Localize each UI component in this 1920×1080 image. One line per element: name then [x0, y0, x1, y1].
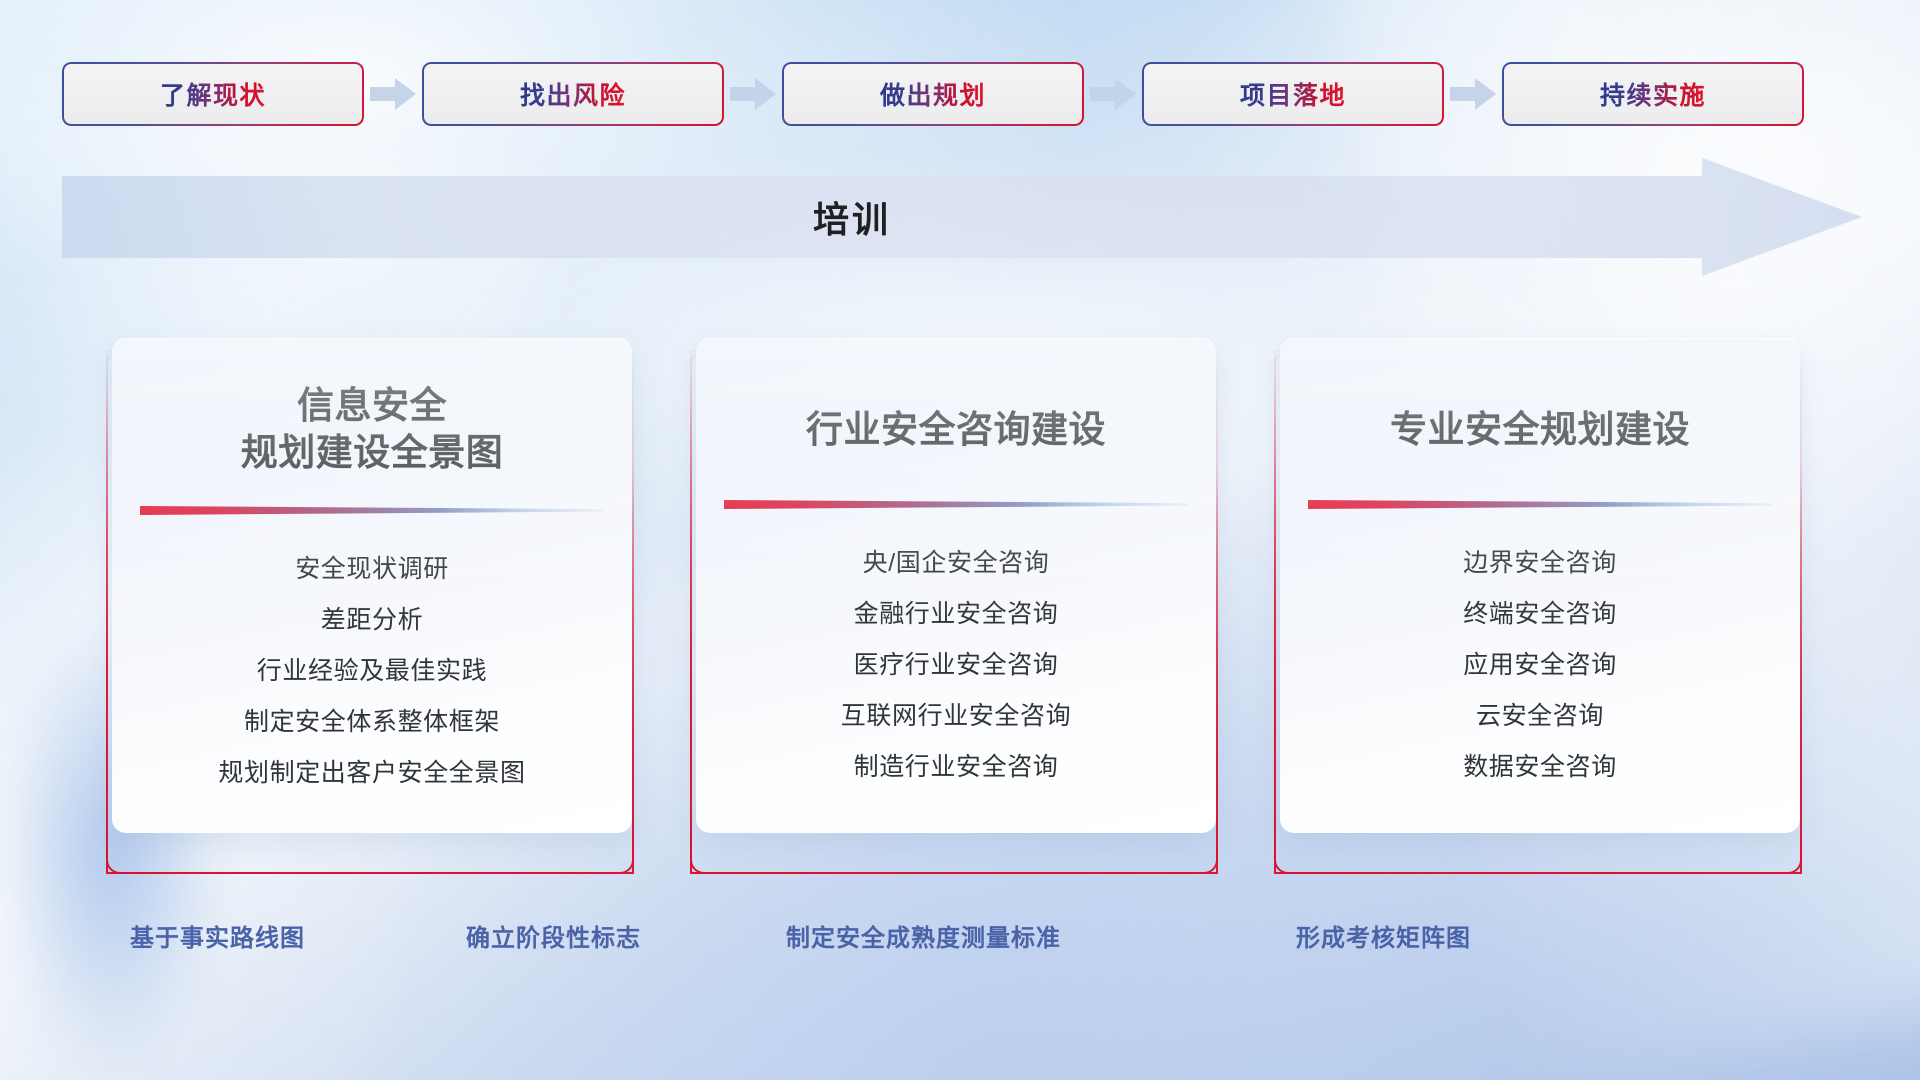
cards-row: 信息安全 规划建设全景图: [112, 338, 1812, 868]
list-item: 央/国企安全咨询: [696, 538, 1216, 589]
card-2[interactable]: 行业安全咨询建设: [696, 338, 1224, 868]
footnote-row: 基于事实路线图 确立阶段性标志 制定安全成熟度测量标准 形成考核矩阵图: [0, 918, 1920, 962]
step-box-5[interactable]: 持续实施: [1502, 62, 1804, 126]
process-step-row: 了解现状 找出风险 做出规划 项目落地: [62, 62, 1862, 126]
footnote-3: 制定安全成熟度测量标准: [786, 918, 1061, 953]
training-banner-label: 培训: [0, 158, 1752, 276]
step-label-1: 了解现状: [160, 76, 266, 112]
list-item: 安全现状调研: [112, 544, 632, 595]
step-connector-arrow-1-icon: [370, 78, 416, 110]
list-item: 互联网行业安全咨询: [696, 691, 1216, 742]
card-1-title: 信息安全 规划建设全景图: [112, 338, 632, 477]
step-label-2: 找出风险: [520, 76, 626, 112]
card-2-list: 央/国企安全咨询 金融行业安全咨询 医疗行业安全咨询 互联网行业安全咨询 制造行…: [696, 538, 1216, 793]
card-3[interactable]: 专业安全规划建设: [1280, 338, 1808, 868]
step-connector-arrow-3-icon: [1090, 78, 1136, 110]
list-item: 金融行业安全咨询: [696, 589, 1216, 640]
step-box-1[interactable]: 了解现状: [62, 62, 364, 126]
step-label-5: 持续实施: [1600, 76, 1706, 112]
step-connector-arrow-4-icon: [1450, 78, 1496, 110]
card-3-surface: 专业安全规划建设: [1280, 338, 1800, 833]
list-item: 行业经验及最佳实践: [112, 646, 632, 697]
card-3-title: 专业安全规划建设: [1280, 338, 1800, 453]
card-1-title-line-1: 信息安全: [134, 382, 610, 429]
list-item: 制定安全体系整体框架: [112, 697, 632, 748]
step-box-3[interactable]: 做出规划: [782, 62, 1084, 126]
card-2-divider: [724, 498, 1188, 512]
slide-canvas: 了解现状 找出风险 做出规划 项目落地: [0, 0, 1920, 1080]
step-label-4: 项目落地: [1240, 76, 1346, 112]
list-item: 差距分析: [112, 595, 632, 646]
step-box-2[interactable]: 找出风险: [422, 62, 724, 126]
list-item: 终端安全咨询: [1280, 589, 1800, 640]
card-3-divider: [1308, 498, 1772, 512]
footnote-1: 基于事实路线图: [130, 918, 305, 953]
card-1-divider: [140, 504, 604, 518]
card-2-surface: 行业安全咨询建设: [696, 338, 1216, 833]
footnote-2: 确立阶段性标志: [466, 918, 641, 953]
list-item: 应用安全咨询: [1280, 640, 1800, 691]
list-item: 云安全咨询: [1280, 691, 1800, 742]
list-item: 规划制定出客户安全全景图: [112, 748, 632, 799]
step-connector-arrow-2-icon: [730, 78, 776, 110]
card-3-title-line-1: 专业安全规划建设: [1302, 406, 1778, 453]
step-box-4[interactable]: 项目落地: [1142, 62, 1444, 126]
card-1[interactable]: 信息安全 规划建设全景图: [112, 338, 640, 868]
step-label-3: 做出规划: [880, 76, 986, 112]
list-item: 制造行业安全咨询: [696, 742, 1216, 793]
list-item: 数据安全咨询: [1280, 742, 1800, 793]
footnote-4: 形成考核矩阵图: [1296, 918, 1471, 953]
card-2-title: 行业安全咨询建设: [696, 338, 1216, 453]
card-1-title-line-2: 规划建设全景图: [134, 429, 610, 476]
card-1-surface: 信息安全 规划建设全景图: [112, 338, 632, 833]
list-item: 医疗行业安全咨询: [696, 640, 1216, 691]
card-2-title-line-1: 行业安全咨询建设: [718, 406, 1194, 453]
card-1-list: 安全现状调研 差距分析 行业经验及最佳实践 制定安全体系整体框架 规划制定出客户…: [112, 544, 632, 799]
list-item: 边界安全咨询: [1280, 538, 1800, 589]
card-3-list: 边界安全咨询 终端安全咨询 应用安全咨询 云安全咨询 数据安全咨询: [1280, 538, 1800, 793]
training-banner: 培训: [62, 158, 1862, 276]
